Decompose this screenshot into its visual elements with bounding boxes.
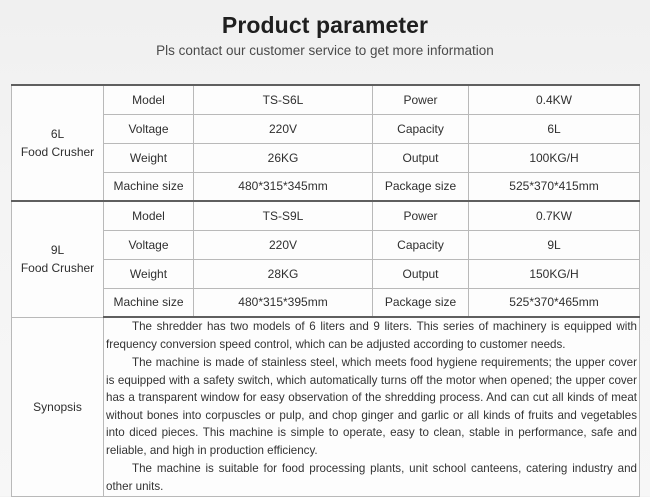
spec-label: Weight: [104, 259, 194, 288]
table-row: Machine size 480*315*345mm Package size …: [12, 172, 640, 201]
spec-label: Machine size: [104, 172, 194, 201]
spec-value: 28KG: [194, 259, 373, 288]
spec-value: 9L: [469, 230, 640, 259]
table-row: 9L Food Crusher Model TS-S9L Power 0.7KW: [12, 201, 640, 230]
spec-label: Voltage: [104, 230, 194, 259]
spec-value: 480*315*345mm: [194, 172, 373, 201]
spec-value: 220V: [194, 230, 373, 259]
spec-label: Voltage: [104, 114, 194, 143]
spec-value: 26KG: [194, 143, 373, 172]
spec-value: 525*370*415mm: [469, 172, 640, 201]
spec-label: Output: [373, 143, 469, 172]
spec-value: 0.4KW: [469, 85, 640, 114]
spec-value: TS-S6L: [194, 85, 373, 114]
spec-label: Package size: [373, 288, 469, 317]
synopsis-label: Synopsis: [12, 317, 104, 497]
table-row: Weight 26KG Output 100KG/H: [12, 143, 640, 172]
spec-table-wrapper: 6L Food Crusher Model TS-S6L Power 0.4KW…: [11, 84, 639, 497]
table-row: Voltage 220V Capacity 9L: [12, 230, 640, 259]
group-label-9l: 9L Food Crusher: [12, 201, 104, 317]
spec-table: 6L Food Crusher Model TS-S6L Power 0.4KW…: [11, 84, 640, 497]
group-label-line2: Food Crusher: [14, 259, 101, 277]
spec-value: TS-S9L: [194, 201, 373, 230]
group-label-line2: Food Crusher: [14, 143, 101, 161]
spec-value: 150KG/H: [469, 259, 640, 288]
synopsis-paragraph: The shredder has two models of 6 liters …: [106, 318, 637, 353]
spec-value: 100KG/H: [469, 143, 640, 172]
product-parameter-page: Product parameter Pls contact our custom…: [0, 0, 650, 496]
synopsis-row: Synopsis The shredder has two models of …: [12, 317, 640, 497]
group-label-line1: 6L: [14, 125, 101, 143]
spec-label: Power: [373, 201, 469, 230]
page-header: Product parameter Pls contact our custom…: [0, 0, 650, 61]
spec-value: 480*315*395mm: [194, 288, 373, 317]
spec-label: Capacity: [373, 114, 469, 143]
spec-value: 220V: [194, 114, 373, 143]
spec-label: Power: [373, 85, 469, 114]
spec-value: 525*370*465mm: [469, 288, 640, 317]
table-row: Machine size 480*315*395mm Package size …: [12, 288, 640, 317]
spec-value: 0.7KW: [469, 201, 640, 230]
spec-label: Weight: [104, 143, 194, 172]
table-row: Weight 28KG Output 150KG/H: [12, 259, 640, 288]
spec-label: Machine size: [104, 288, 194, 317]
group-label-line1: 9L: [14, 241, 101, 259]
table-row: Voltage 220V Capacity 6L: [12, 114, 640, 143]
group-label-6l: 6L Food Crusher: [12, 85, 104, 201]
spec-value: 6L: [469, 114, 640, 143]
synopsis-paragraph: The machine is suitable for food process…: [106, 460, 637, 495]
spec-label: Output: [373, 259, 469, 288]
page-subtitle: Pls contact our customer service to get …: [0, 41, 650, 61]
table-row: 6L Food Crusher Model TS-S6L Power 0.4KW: [12, 85, 640, 114]
synopsis-body: The shredder has two models of 6 liters …: [104, 317, 640, 497]
spec-label: Model: [104, 201, 194, 230]
spec-label: Model: [104, 85, 194, 114]
spec-label: Capacity: [373, 230, 469, 259]
synopsis-paragraph: The machine is made of stainless steel, …: [106, 354, 637, 459]
page-title: Product parameter: [0, 11, 650, 39]
spec-label: Package size: [373, 172, 469, 201]
